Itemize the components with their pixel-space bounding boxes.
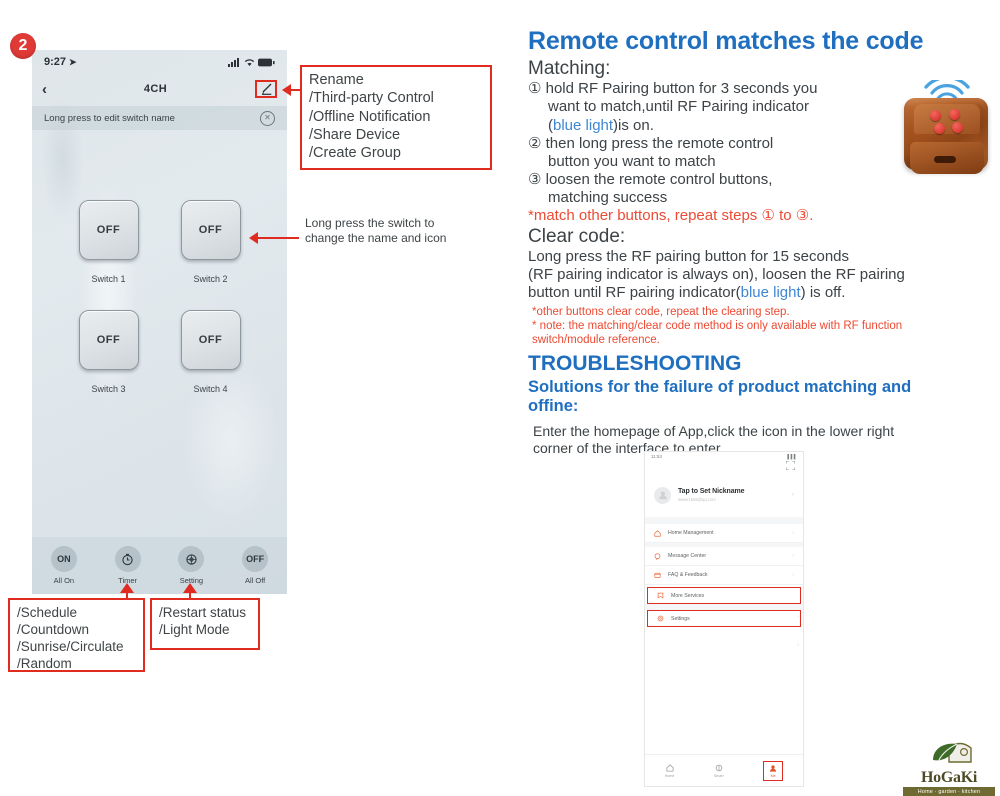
remote-body: [904, 98, 988, 170]
callout-rename-line-4: /Share Device: [309, 126, 483, 144]
mini-profile-row[interactable]: Tap to Set Nickname wwwr1555@qq.com ›: [645, 473, 803, 517]
callout-timer-line-4: /Random: [17, 655, 136, 672]
location-arrow-icon: ➤: [69, 57, 77, 68]
callout-setting-line-1: /Restart status: [159, 604, 251, 621]
mini-row-label-more-services: More Services: [671, 593, 704, 599]
edit-switch-name-hint: Long press to edit switch name ✕: [32, 106, 287, 130]
remote-button-c: [930, 110, 941, 121]
solutions-line-2: offine:: [528, 397, 990, 416]
timer-callout-arrow-head: [120, 583, 134, 593]
remote-upper-shell: [914, 104, 980, 134]
mini-row-more-services[interactable]: More Services: [647, 587, 801, 604]
timer-clock-icon: [115, 546, 141, 572]
rename-pencil-icon[interactable]: [255, 80, 277, 98]
remote-keyring-slot: [934, 156, 956, 163]
toolbar-all-on[interactable]: ON All On: [51, 546, 77, 585]
clear-code-heading: Clear code:: [528, 226, 990, 248]
chevron-right-icon: ›: [797, 614, 799, 620]
logo-leaf-house-icon: [903, 738, 995, 764]
step-badge: 2: [10, 33, 36, 59]
red-note-rf-line-2: switch/module reference.: [532, 333, 990, 347]
matching-heading: Matching:: [528, 58, 990, 80]
page-title: 4CH: [56, 83, 255, 95]
mini-section-gap-1: [645, 517, 803, 524]
repeat-steps-note: *match other buttons, repeat steps ① to …: [528, 207, 990, 225]
callout-rename-line-1: Rename: [309, 71, 483, 89]
switch-button-3[interactable]: OFF: [79, 310, 139, 370]
step-badge-number: 2: [19, 37, 28, 55]
note-long-press-switch: Long press the switch to change the name…: [305, 216, 465, 247]
remote-button-a: [949, 109, 960, 120]
clear-line-1: Long press the RF pairing button for 15 …: [528, 248, 849, 265]
red-note-rf-function: * note: the matching/clear code method i…: [528, 319, 990, 348]
callout-rename-line-2: /Third-party Control: [309, 89, 483, 107]
services-icon: [657, 592, 664, 599]
phone-nav-bar: ‹ 4CH: [32, 74, 287, 104]
mini-tab-label-me: Me: [771, 774, 776, 778]
long-press-arrow-head: [249, 232, 258, 244]
remote-button-d: [952, 122, 963, 133]
mini-row-label-settings: Settings: [671, 616, 690, 622]
phone-app-screenshot: 9:27 ➤ ‹ 4CH: [32, 50, 287, 594]
callout-rename-menu: Rename /Third-party Control /Offline Not…: [300, 65, 492, 170]
switch-button-1[interactable]: OFF: [79, 200, 139, 260]
mini-tab-me[interactable]: Me: [763, 761, 783, 781]
clear-code-steps: Long press the RF pairing button for 15 …: [528, 248, 990, 302]
step-1-line-1: ① hold RF Pairing button for 3 seconds y…: [528, 80, 817, 97]
switch-cell-1[interactable]: OFF Switch 1: [73, 200, 145, 284]
switch-label-2: Switch 2: [193, 274, 227, 284]
switch-row-2: OFF Switch 3 OFF Switch 4: [32, 310, 287, 394]
solutions-line-1: Solutions for the failure of product mat…: [528, 378, 911, 396]
hint-text: Long press to edit switch name: [44, 113, 175, 124]
callout-timer-line-3: /Sunrise/Circulate: [17, 638, 136, 655]
chevron-right-icon: ›: [792, 553, 794, 559]
switch-label-4: Switch 4: [193, 384, 227, 394]
mini-tab-smart[interactable]: Smart: [714, 764, 724, 778]
status-time: 9:27: [44, 56, 66, 68]
setting-callout-arrow-head: [183, 583, 197, 593]
close-circle-icon[interactable]: ✕: [260, 111, 275, 126]
toolbar-all-on-label: All On: [54, 576, 74, 585]
mini-status-bar: 11:53 ▌▌▌: [645, 452, 803, 461]
wifi-icon: [244, 58, 255, 67]
mini-row-message-center[interactable]: Message Center ›: [645, 547, 803, 566]
back-chevron-icon[interactable]: ‹: [42, 82, 56, 97]
switch-button-2[interactable]: OFF: [181, 200, 241, 260]
mini-scan-row: [645, 461, 803, 473]
switch-cell-4[interactable]: OFF Switch 4: [175, 310, 247, 394]
mini-nickname: Tap to Set Nickname: [678, 488, 744, 495]
chevron-right-icon: ›: [792, 492, 794, 498]
callout-rename-line-5: /Create Group: [309, 144, 483, 162]
mini-tab-label-smart: Smart: [714, 774, 724, 778]
faq-icon: [654, 572, 661, 579]
clear-line-2: (RF pairing indicator is always on), loo…: [528, 266, 990, 284]
phone-status-bar: 9:27 ➤: [32, 50, 287, 74]
me-tab-icon: [769, 764, 777, 772]
troubleshooting-heading: TROUBLESHOOTING: [528, 352, 990, 375]
callout-rename-arrow-head: [282, 84, 291, 96]
step-3-line-2: matching success: [528, 189, 990, 207]
callout-timer-options: /Schedule /Countdown /Sunrise/Circulate …: [8, 598, 145, 672]
home-icon: [654, 530, 661, 537]
step-1-tail: )is on.: [613, 117, 654, 134]
power-on-icon: ON: [51, 546, 77, 572]
scan-qr-icon[interactable]: [786, 461, 795, 470]
switch-cell-2[interactable]: OFF Switch 2: [175, 200, 247, 284]
callout-setting-line-2: /Light Mode: [159, 621, 251, 638]
toolbar-all-off-label: All Off: [245, 576, 265, 585]
mini-status-time: 11:53: [651, 454, 662, 459]
toolbar-setting[interactable]: Setting: [178, 546, 204, 585]
toolbar-timer[interactable]: Timer: [115, 546, 141, 585]
enter-note-line-1: Enter the homepage of App,click the icon…: [533, 423, 894, 439]
mini-row-label-message-center: Message Center: [668, 553, 706, 559]
rf-remote-control-image: [896, 88, 998, 180]
home-tab-icon: [666, 764, 674, 772]
mini-profile-text: Tap to Set Nickname wwwr1555@qq.com: [678, 488, 744, 502]
remote-button-b: [934, 123, 945, 134]
section-title-remote-matching: Remote control matches the code: [528, 28, 990, 56]
mini-row-label-faq-feedback: FAQ & Feedback: [668, 572, 708, 578]
clear-line-3-pre: button until RF pairing indicator(: [528, 284, 741, 301]
switch-cell-3[interactable]: OFF Switch 3: [73, 310, 145, 394]
logo-tagline: Home · garden · kitchen: [903, 787, 995, 796]
chevron-right-icon: ›: [792, 572, 794, 578]
mini-row-faq-feedback[interactable]: FAQ & Feedback ›: [645, 566, 803, 585]
mini-row-home-management[interactable]: Home Management ›: [645, 524, 803, 543]
setting-gear-icon: [178, 546, 204, 572]
message-icon: [654, 553, 661, 560]
setting-callout-stem: [189, 592, 191, 600]
step-2-line-1: ② then long press the remote control: [528, 135, 773, 152]
callout-timer-line-1: /Schedule: [17, 604, 136, 621]
hogaki-logo: HoGaKi Home · garden · kitchen: [903, 738, 995, 788]
battery-full-icon: [258, 58, 275, 67]
logo-wordmark: HoGaKi: [903, 769, 995, 787]
mini-tab-label-home: Home: [665, 774, 675, 778]
callout-timer-line-2: /Countdown: [17, 621, 136, 638]
red-note-other-buttons: *other buttons clear code, repeat the cl…: [528, 305, 990, 319]
long-press-arrow-line: [255, 237, 299, 239]
red-note-rf-line-1: * note: the matching/clear code method i…: [532, 320, 902, 332]
phone-bottom-toolbar: ON All On Timer Setting OFF All Off: [32, 537, 287, 594]
mini-email: wwwr1555@qq.com: [678, 497, 744, 502]
pencil-glyph-icon: [260, 83, 273, 96]
step-3-line-1: ③ loosen the remote control buttons,: [528, 171, 772, 188]
timer-callout-stem: [126, 592, 128, 600]
switch-button-4[interactable]: OFF: [181, 310, 241, 370]
mini-row-settings[interactable]: Settings: [647, 610, 801, 627]
switch-label-1: Switch 1: [91, 274, 125, 284]
blue-light-term-1: blue light: [553, 117, 613, 134]
blue-light-term-2: blue light: [741, 284, 801, 301]
cellular-signal-icon: [228, 58, 241, 67]
switch-grid: OFF Switch 1 OFF Switch 2 OFF Switch 3 O…: [32, 200, 287, 402]
mini-bottom-tab-bar: Home Smart Me: [645, 754, 803, 786]
callout-setting-options: /Restart status /Light Mode: [150, 598, 260, 650]
user-avatar-icon: [654, 487, 671, 504]
clear-line-3-post: ) is off.: [801, 284, 846, 301]
solutions-heading: Solutions for the failure of product mat…: [528, 378, 990, 416]
power-off-icon: OFF: [242, 546, 268, 572]
mini-row-label-home-management: Home Management: [668, 530, 714, 536]
toolbar-all-off[interactable]: OFF All Off: [242, 546, 268, 585]
mini-app-screenshot: 11:53 ▌▌▌ Tap to Set Nickname wwwr1555@q…: [645, 452, 803, 786]
mini-tab-home[interactable]: Home: [665, 764, 675, 778]
chevron-right-icon: ›: [792, 530, 794, 536]
clear-line-3: button until RF pairing indicator(blue l…: [528, 284, 990, 302]
callout-rename-line-3: /Offline Notification: [309, 108, 483, 126]
chevron-right-icon: ›: [797, 642, 799, 648]
switch-label-3: Switch 3: [91, 384, 125, 394]
mini-status-icons: ▌▌▌: [787, 454, 797, 459]
smart-tab-icon: [715, 764, 723, 772]
note-long-press-text: Long press the switch to change the name…: [305, 216, 446, 245]
settings-icon: [657, 615, 664, 622]
